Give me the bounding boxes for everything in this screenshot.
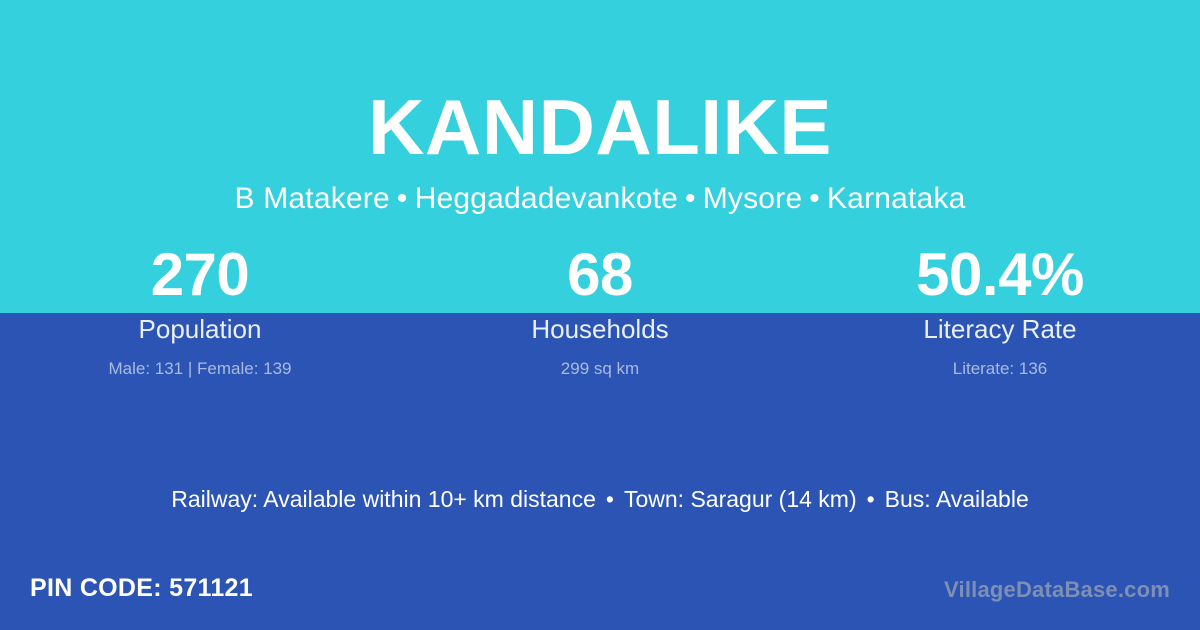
amenities-line: Railway: Available within 10+ km distanc…	[0, 485, 1200, 514]
amenity-town: Town: Saragur (14 km)	[624, 486, 857, 512]
stat-literacy-rate: 50.4% Literacy Rate Literate: 136	[800, 243, 1200, 380]
card-footer: PIN CODE: 571121 VillageDataBase.com	[0, 560, 1200, 630]
breadcrumb-item-locality: B Matakere	[234, 182, 389, 215]
stat-population: 270 Population Male: 131 | Female: 139	[0, 243, 400, 380]
stat-label: Households	[400, 314, 800, 345]
amenity-separator: •	[857, 486, 885, 512]
stat-value: 270	[0, 243, 400, 311]
breadcrumb-separator: •	[678, 182, 703, 215]
breadcrumb: B Matakere•Heggadadevankote•Mysore•Karna…	[0, 182, 1200, 217]
stat-label: Literacy Rate	[800, 314, 1200, 345]
stat-label: Population	[0, 314, 400, 345]
stat-sublabel: Male: 131 | Female: 139	[0, 359, 400, 379]
page-title: KANDALIKE	[0, 88, 1200, 166]
stat-value: 68	[400, 243, 800, 311]
site-brand: VillageDataBase.com	[944, 577, 1170, 603]
breadcrumb-separator: •	[802, 182, 827, 215]
breadcrumb-item-block: Heggadadevankote	[415, 182, 678, 215]
breadcrumb-item-state: Karnataka	[827, 182, 966, 215]
breadcrumb-item-district: Mysore	[703, 182, 803, 215]
stat-households: 68 Households 299 sq km	[400, 243, 800, 380]
amenity-railway: Railway: Available within 10+ km distanc…	[171, 486, 596, 512]
amenity-separator: •	[596, 486, 624, 512]
breadcrumb-separator: •	[390, 182, 415, 215]
village-info-card: KANDALIKE B Matakere•Heggadadevankote•My…	[0, 0, 1200, 630]
stat-sublabel: 299 sq km	[400, 359, 800, 379]
stat-sublabel: Literate: 136	[800, 359, 1200, 379]
stat-value: 50.4%	[800, 243, 1200, 311]
amenity-bus: Bus: Available	[885, 486, 1029, 512]
stats-row: 270 Population Male: 131 | Female: 139 6…	[0, 243, 1200, 380]
pin-code: PIN CODE: 571121	[30, 574, 253, 603]
